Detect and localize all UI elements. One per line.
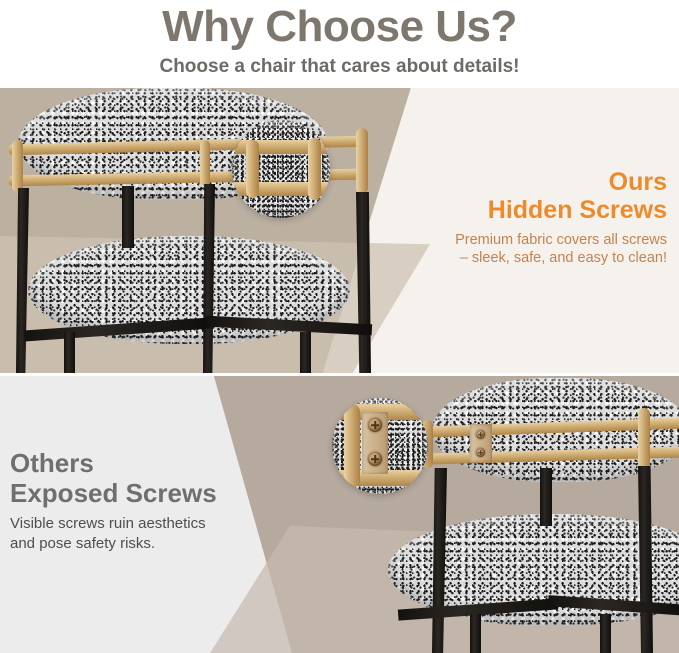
- frame-post-left: [12, 140, 23, 192]
- magnified-post: [246, 140, 259, 198]
- chair-leg-back-left: [122, 186, 134, 248]
- frame-post-right-others: [638, 408, 650, 470]
- screw-lower-others: [476, 448, 485, 457]
- magnified-post-right: [308, 138, 321, 200]
- infographic-page: Why Choose Us? Choose a chair that cares…: [0, 0, 679, 653]
- chair-leg-rear-b: [300, 332, 311, 373]
- frame-post-mid: [200, 140, 210, 186]
- chair-leg-rear-a: [64, 332, 75, 373]
- body-ours-line2: – sleek, safe, and easy to clean!: [397, 249, 667, 267]
- magnified-post-others: [344, 404, 360, 488]
- frame-post-right: [356, 128, 368, 194]
- page-title: Why Choose Us?: [162, 2, 517, 52]
- page-subtitle: Choose a chair that cares about details!: [159, 55, 519, 79]
- body-others-line2: and pose safety risks.: [10, 534, 280, 554]
- magnified-screw-lower: [368, 452, 382, 466]
- body-ours-line1: Premium fabric covers all screws: [397, 231, 667, 249]
- chair-leg-rear-a-others: [470, 614, 481, 653]
- chair-leg-mid-others: [540, 468, 552, 526]
- screw-upper-others: [476, 430, 485, 439]
- text-block-ours: Ours Hidden Screws Premium fabric covers…: [397, 168, 667, 267]
- panel-others: Others Exposed Screws Visible screws rui…: [0, 376, 679, 653]
- magnifier-hidden-screws: [232, 120, 330, 218]
- text-block-others: Others Exposed Screws Visible screws rui…: [10, 448, 280, 554]
- chair-leg-rear-b-others: [600, 614, 611, 653]
- body-others-line1: Visible screws ruin aesthetics: [10, 514, 280, 534]
- heading-exposed-screws: Exposed Screws: [10, 478, 280, 509]
- body-others: Visible screws ruin aesthetics and pose …: [10, 514, 280, 554]
- heading-hidden-screws: Hidden Screws: [397, 196, 667, 225]
- label-ours: Ours: [397, 168, 667, 196]
- panel-ours: Ours Hidden Screws Premium fabric covers…: [0, 88, 679, 373]
- body-ours: Premium fabric covers all screws – sleek…: [397, 231, 667, 267]
- magnifier-exposed-screws: [332, 398, 428, 494]
- label-others: Others: [10, 448, 280, 478]
- header: Why Choose Us? Choose a chair that cares…: [0, 0, 679, 88]
- magnified-screw-upper: [368, 418, 382, 432]
